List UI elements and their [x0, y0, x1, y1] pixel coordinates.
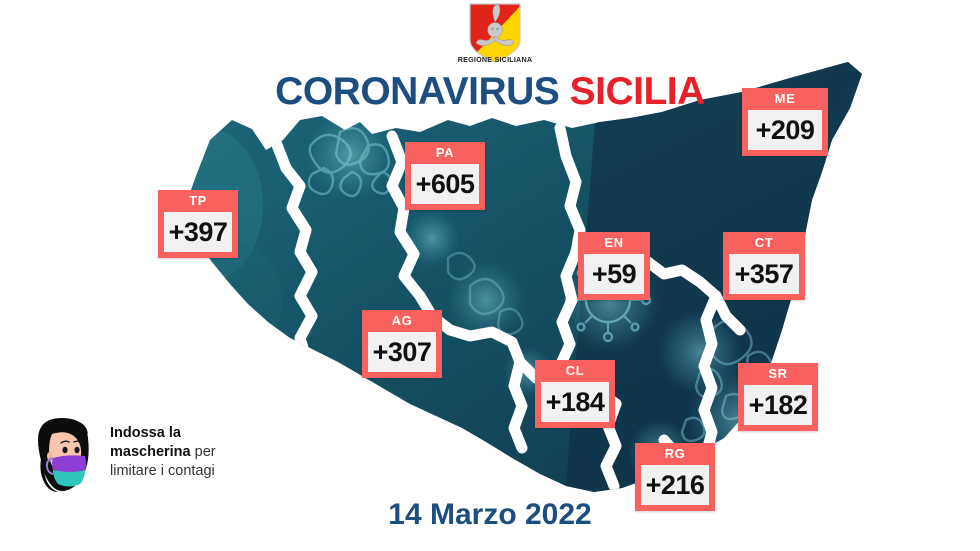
province-badge-me[interactable]: ME +209	[742, 88, 828, 156]
province-code-ct: CT	[723, 232, 805, 254]
province-badge-ag[interactable]: AG +307	[362, 310, 442, 378]
province-badge-cl[interactable]: CL +184	[535, 360, 615, 428]
woman-wearing-mask-icon	[20, 410, 104, 494]
date-label: 14 Marzo 2022	[0, 498, 980, 532]
province-badge-tp[interactable]: TP +397	[158, 190, 238, 258]
province-code-pa: PA	[405, 142, 485, 164]
province-code-me: ME	[742, 88, 828, 110]
province-value-cl: +184	[541, 382, 609, 422]
province-badge-en[interactable]: EN +59	[578, 232, 650, 300]
mask-notice-line3: limitare i contagi	[110, 463, 215, 479]
province-code-sr: SR	[738, 363, 818, 385]
province-code-rg: RG	[635, 443, 715, 465]
province-value-ct: +357	[729, 254, 799, 294]
province-value-pa: +605	[411, 164, 479, 204]
mask-notice-line2-rest: per	[191, 444, 216, 460]
page-title: CORONAVIRUS SICILIA	[0, 70, 980, 114]
infographic-canvas: REGIONE SICILIANA CORONAVIRUS SICILIA TP…	[0, 0, 980, 551]
province-value-sr: +182	[744, 385, 812, 425]
province-code-en: EN	[578, 232, 650, 254]
title-coronavirus: CORONAVIRUS	[275, 70, 559, 113]
mask-notice-text: Indossa la mascherina per limitare i con…	[110, 424, 282, 481]
title-sicilia: SICILIA	[570, 70, 705, 113]
province-code-ag: AG	[362, 310, 442, 332]
province-badge-pa[interactable]: PA +605	[405, 142, 485, 210]
mask-notice-line2-bold: mascherina	[110, 444, 191, 460]
province-badge-sr[interactable]: SR +182	[738, 363, 818, 431]
mask-notice: Indossa la mascherina per limitare i con…	[18, 408, 278, 496]
emblem-caption: REGIONE SICILIANA	[440, 55, 550, 64]
province-value-ag: +307	[368, 332, 436, 372]
province-value-en: +59	[584, 254, 644, 294]
province-badge-ct[interactable]: CT +357	[723, 232, 805, 300]
province-code-cl: CL	[535, 360, 615, 382]
province-value-tp: +397	[164, 212, 232, 252]
mask-notice-line1: Indossa la	[110, 425, 181, 441]
province-code-tp: TP	[158, 190, 238, 212]
province-value-me: +209	[748, 110, 822, 150]
